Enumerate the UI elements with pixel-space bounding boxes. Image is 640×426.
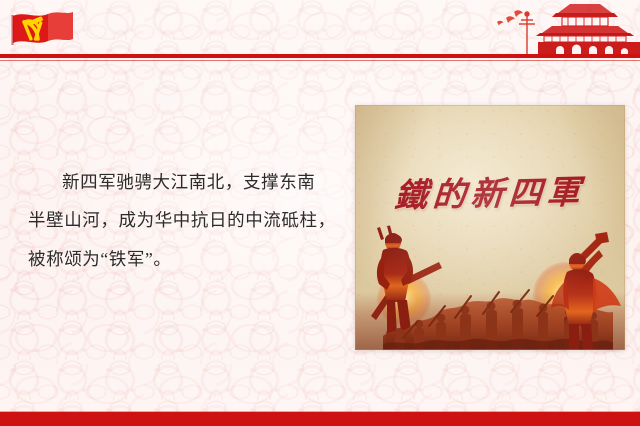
body-line-1: 新四军驰骋大江南北，支撑东南 [28, 168, 344, 196]
body-paragraph: 新四军驰骋大江南北，支撑东南 半壁山河，成为华中抗日的中流砥柱， 被称颂为“铁军… [28, 168, 344, 273]
header-band [0, 0, 640, 54]
tiananmen-gate-icon [508, 0, 640, 58]
header-divider-thin-rule [0, 60, 640, 61]
photo-card: 鐵的新四軍 [355, 105, 625, 350]
header-divider-rule [0, 54, 640, 58]
body-line-2: 半壁山河，成为华中抗日的中流砥柱， [28, 206, 344, 234]
footer-bar [0, 412, 640, 426]
slide-root: 新四军驰骋大江南北，支撑东南 半壁山河，成为华中抗日的中流砥柱， 被称颂为“铁军… [0, 0, 640, 426]
body-line-3: 被称颂为“铁军”。 [28, 245, 344, 273]
cpc-party-flag-icon [10, 9, 76, 53]
photo-inner-edge [355, 105, 625, 350]
